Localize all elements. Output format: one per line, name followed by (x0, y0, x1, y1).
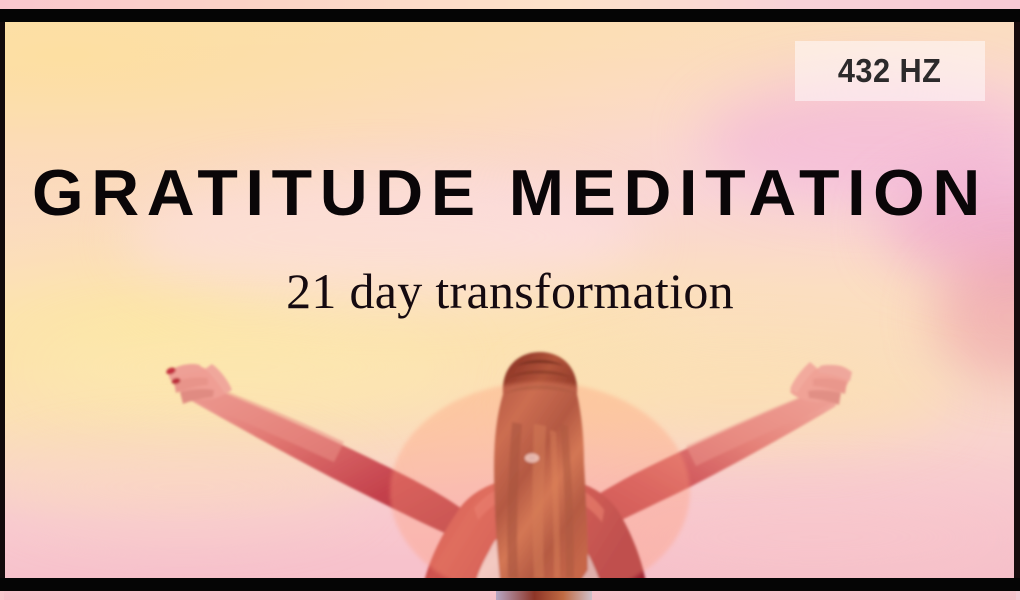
letterbox-bar-top (0, 9, 1020, 22)
letterbox-bar-bottom (0, 578, 1020, 591)
frame-edge-right (1014, 22, 1020, 578)
frequency-badge: 432 HZ (795, 41, 985, 101)
photo-frame-lower-sliver (4, 591, 1016, 600)
figure-sliver (496, 591, 592, 600)
frequency-badge-label: 432 HZ (838, 52, 941, 90)
page-title: GRATITUDE MEDITATION (0, 160, 1020, 225)
page-subtitle: 21 day transformation (0, 266, 1020, 316)
thumbnail-canvas: GRATITUDE MEDITATION 21 day transformati… (0, 0, 1020, 600)
frame-edge-left (0, 22, 5, 578)
